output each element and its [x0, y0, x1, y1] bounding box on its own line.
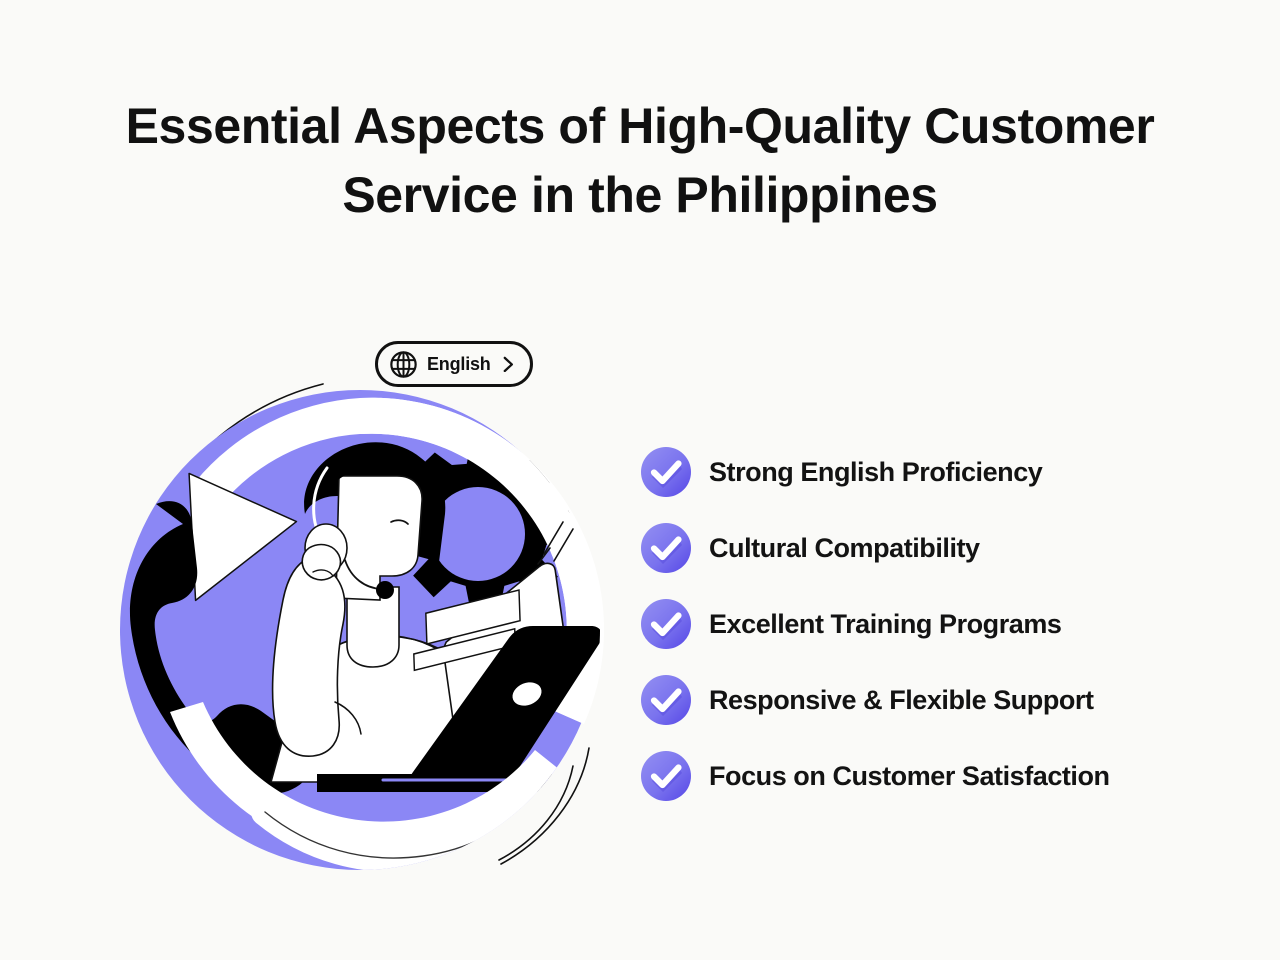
check-circle-icon	[641, 599, 691, 649]
benefits-checklist: Strong English Proficiency Cultural Comp…	[641, 446, 1201, 802]
list-item-label: Responsive & Flexible Support	[709, 687, 1094, 714]
language-label: English	[427, 354, 491, 375]
check-circle-icon	[641, 447, 691, 497]
infographic-canvas: Essential Aspects of High-Quality Custom…	[0, 0, 1280, 960]
customer-service-agent-illustration	[95, 372, 625, 882]
chevron-right-icon[interactable]	[501, 356, 516, 373]
check-circle-icon	[641, 675, 691, 725]
list-item-label: Cultural Compatibility	[709, 535, 980, 562]
globe-icon	[389, 350, 418, 379]
page-title-line-2: Service in the Philippines	[342, 167, 937, 223]
mic-tip	[376, 581, 394, 599]
list-item: Focus on Customer Satisfaction	[641, 750, 1201, 802]
hand	[302, 545, 340, 580]
check-circle-icon	[641, 751, 691, 801]
page-title: Essential Aspects of High-Quality Custom…	[110, 92, 1170, 230]
list-item: Cultural Compatibility	[641, 522, 1201, 574]
language-selector-badge[interactable]: English	[375, 341, 533, 387]
list-item-label: Focus on Customer Satisfaction	[709, 763, 1110, 790]
list-item-label: Excellent Training Programs	[709, 611, 1061, 638]
list-item: Strong English Proficiency	[641, 446, 1201, 498]
list-item: Responsive & Flexible Support	[641, 674, 1201, 726]
page-title-line-1: Essential Aspects of High-Quality Custom…	[126, 98, 1155, 154]
list-item-label: Strong English Proficiency	[709, 459, 1042, 486]
list-item: Excellent Training Programs	[641, 598, 1201, 650]
check-circle-icon	[641, 523, 691, 573]
